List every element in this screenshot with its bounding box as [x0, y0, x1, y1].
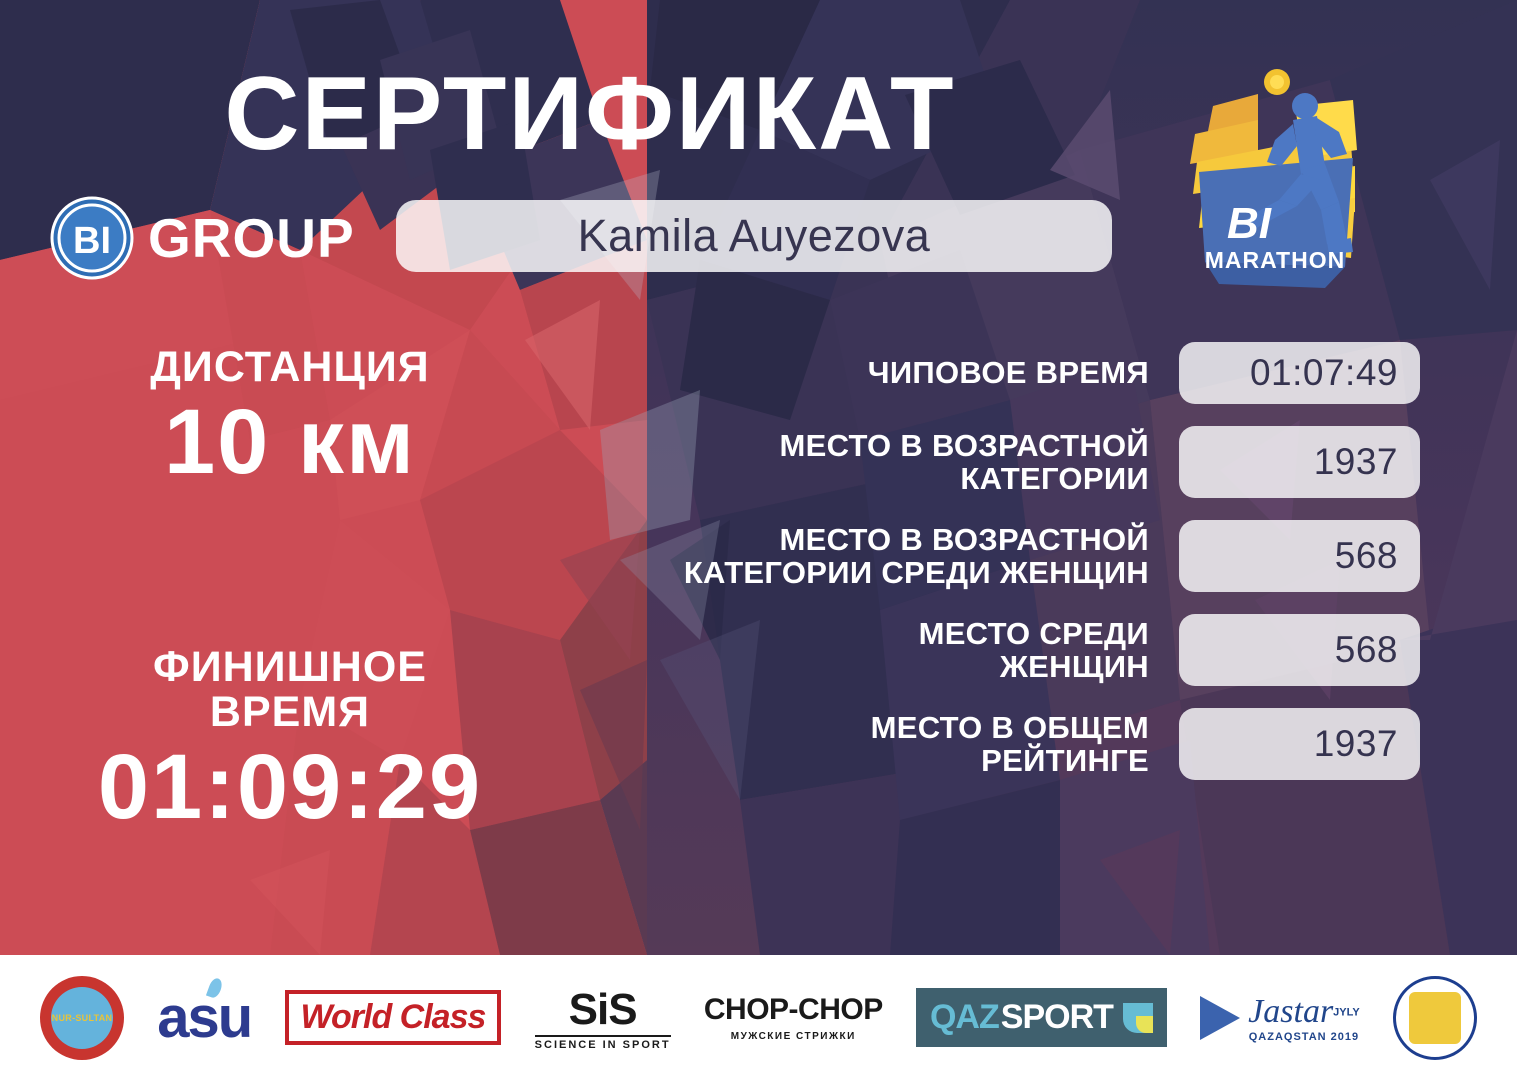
- finish-time-label-line2: ВРЕМЯ: [0, 690, 580, 735]
- sis-logo: SiS SCIENCE IN SPORT: [535, 985, 671, 1051]
- asu-wordmark: asu: [157, 984, 251, 1051]
- bi-marathon-logo: BI MARATHON: [1175, 62, 1390, 297]
- nur-sultan-seal-icon: NUR-SULTAN: [40, 976, 124, 1060]
- finish-time-value: 01:09:29: [0, 741, 580, 833]
- stat-row-age-category-women-place: МЕСТО В ВОЗРАСТНОЙ КАТЕГОРИИ СРЕДИ ЖЕНЩИ…: [600, 520, 1420, 592]
- sponsor-chop-chop: CHOP-CHOP МУЖСКИЕ СТРИЖКИ: [704, 968, 883, 1068]
- distance-block: ДИСТАНЦИЯ 10 км: [0, 345, 580, 488]
- sponsor-qazsport: QAZ SPORT: [916, 968, 1167, 1068]
- stat-value-age-category-women-place: 568: [1179, 520, 1420, 592]
- jastar-subtext: QAZAQSTAN 2019: [1248, 1031, 1360, 1043]
- ministry-seal-inner: [1409, 992, 1461, 1044]
- jastar-jyly-logo: JastarJYLY QAZAQSTAN 2019: [1200, 993, 1360, 1043]
- sponsor-nur-sultan-seal: NUR-SULTAN: [40, 968, 124, 1068]
- stat-row-age-category-place: МЕСТО В ВОЗРАСТНОЙ КАТЕГОРИИ 1937: [600, 426, 1420, 498]
- stat-label-overall-place: МЕСТО В ОБЩЕМ РЕЙТИНГЕ: [600, 711, 1179, 777]
- stat-value-women-place: 568: [1179, 614, 1420, 686]
- participant-name-value: Kamila Auyezova: [578, 210, 931, 262]
- bi-group-logo: BI GROUP: [50, 196, 355, 280]
- certificate-card: СЕРТИФИКАТ BI GROUP Kamila Auyezova: [0, 0, 1517, 1080]
- world-class-wordmark: World Class: [285, 990, 502, 1045]
- sis-tagline: SCIENCE IN SPORT: [535, 1035, 671, 1051]
- stat-value-age-category-place: 1937: [1179, 426, 1420, 498]
- chop-chop-logo: CHOP-CHOP МУЖСКИЕ СТРИЖКИ: [704, 993, 883, 1042]
- stat-label-chip-time: ЧИПОВОЕ ВРЕМЯ: [600, 356, 1179, 389]
- qazsport-square-icon: [1123, 1003, 1153, 1033]
- chop-chop-wordmark: CHOP-CHOP: [704, 993, 883, 1027]
- stat-row-women-place: МЕСТО СРЕДИ ЖЕНЩИН 568: [600, 614, 1420, 686]
- sponsor-ministry-of-culture-and-sport: [1393, 968, 1477, 1068]
- page-title: СЕРТИФИКАТ: [0, 62, 1180, 166]
- jastar-wordmark: Jastar: [1248, 993, 1333, 1030]
- sponsor-world-class: World Class: [285, 968, 502, 1068]
- stat-label-line1: МЕСТО В ВОЗРАСТНОЙ: [600, 523, 1149, 556]
- sponsor-science-in-sport: SiS SCIENCE IN SPORT: [535, 968, 671, 1068]
- qazsport-label-a: QAZ: [930, 998, 999, 1037]
- distance-value: 10 км: [0, 396, 580, 488]
- bi-marathon-logo-icon: BI MARATHON: [1175, 62, 1390, 292]
- jastar-text-block: JastarJYLY QAZAQSTAN 2019: [1248, 993, 1360, 1043]
- sis-wordmark: SiS: [535, 985, 671, 1035]
- sponsor-bar: NUR-SULTAN asu World Class SiS SCIENCE I…: [0, 955, 1517, 1080]
- stat-label-line1: ЧИПОВОЕ ВРЕМЯ: [600, 356, 1149, 389]
- distance-label: ДИСТАНЦИЯ: [0, 345, 580, 390]
- jastar-arrow-icon: [1200, 996, 1240, 1040]
- bi-group-wordmark: GROUP: [148, 206, 355, 270]
- stat-label-line2: РЕЙТИНГЕ: [600, 744, 1149, 777]
- jastar-superscript: JYLY: [1333, 1006, 1360, 1018]
- finish-time-block: ФИНИШНОЕ ВРЕМЯ 01:09:29: [0, 645, 580, 833]
- stat-label-age-category-women-place: МЕСТО В ВОЗРАСТНОЙ КАТЕГОРИИ СРЕДИ ЖЕНЩИ…: [600, 523, 1179, 589]
- stat-label-age-category-place: МЕСТО В ВОЗРАСТНОЙ КАТЕГОРИИ: [600, 429, 1179, 495]
- svg-text:BI: BI: [73, 220, 111, 262]
- bi-marathon-line2: MARATHON: [1205, 247, 1345, 273]
- bi-badge-icon: BI: [50, 196, 134, 280]
- stat-label-line2: КАТЕГОРИИ: [600, 462, 1149, 495]
- finish-time-label-line1: ФИНИШНОЕ: [0, 645, 580, 690]
- stat-label-line2: КАТЕГОРИИ СРЕДИ ЖЕНЩИН: [600, 556, 1149, 589]
- asu-label: asu: [157, 985, 251, 1050]
- bi-marathon-line1: BI: [1227, 199, 1272, 248]
- chop-chop-tagline: МУЖСКИЕ СТРИЖКИ: [704, 1031, 883, 1042]
- stat-value-chip-time: 01:07:49: [1179, 342, 1420, 404]
- sponsor-jastar-jyly: JastarJYLY QAZAQSTAN 2019: [1200, 968, 1360, 1068]
- stat-row-overall-place: МЕСТО В ОБЩЕМ РЕЙТИНГЕ 1937: [600, 708, 1420, 780]
- stats-list: ЧИПОВОЕ ВРЕМЯ 01:07:49 МЕСТО В ВОЗРАСТНО…: [600, 342, 1420, 802]
- qazsport-label-b: SPORT: [1001, 998, 1113, 1037]
- sponsor-asu: asu: [157, 968, 251, 1068]
- stat-label-line2: ЖЕНЩИН: [600, 650, 1149, 683]
- participant-name-field[interactable]: Kamila Auyezova: [396, 200, 1112, 272]
- stat-label-line1: МЕСТО В ОБЩЕМ: [600, 711, 1149, 744]
- qazsport-logo: QAZ SPORT: [916, 988, 1167, 1047]
- sponsor-nur-sultan-label: NUR-SULTAN: [52, 1013, 113, 1023]
- stat-value-overall-place: 1937: [1179, 708, 1420, 780]
- stat-row-chip-time: ЧИПОВОЕ ВРЕМЯ 01:07:49: [600, 342, 1420, 404]
- stat-label-women-place: МЕСТО СРЕДИ ЖЕНЩИН: [600, 617, 1179, 683]
- ministry-seal-icon: [1393, 976, 1477, 1060]
- stat-label-line1: МЕСТО В ВОЗРАСТНОЙ: [600, 429, 1149, 462]
- stat-label-line1: МЕСТО СРЕДИ: [600, 617, 1149, 650]
